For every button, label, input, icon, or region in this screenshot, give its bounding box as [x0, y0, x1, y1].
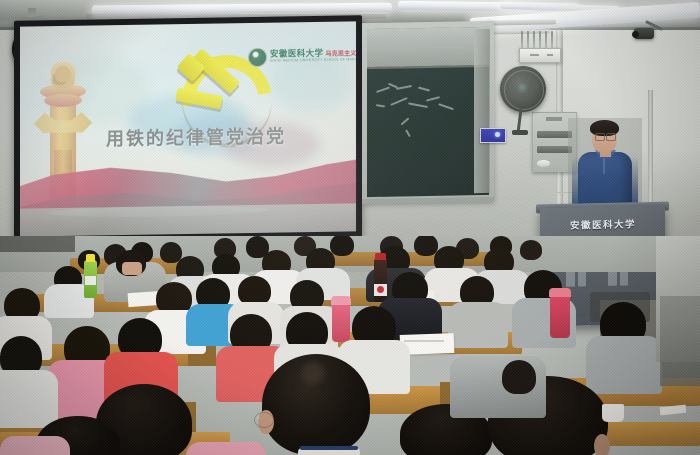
paper-sheet [660, 405, 687, 416]
panel-label [546, 117, 562, 121]
student-torso-pink [186, 442, 266, 455]
pink-thermos [550, 294, 570, 338]
bottle-label [85, 276, 96, 285]
fan-hub [517, 83, 529, 95]
blackboard [362, 21, 494, 203]
student-torso-pink [0, 436, 70, 455]
student-head [502, 360, 536, 394]
wall-dark-patch [0, 236, 75, 252]
hair-highlight [302, 362, 324, 384]
student-ear [594, 434, 610, 455]
paper-cup [602, 404, 624, 422]
bottle-logo [377, 286, 384, 293]
fan-base [512, 130, 528, 135]
pink-thermos [332, 302, 350, 342]
wall-fan-icon [500, 66, 548, 114]
thermos-cap [549, 288, 571, 297]
display-panel-indicator [495, 132, 500, 137]
display-panel-icon[interactable] [480, 128, 506, 143]
projection-screen: 安徽医科大学 马克思主义学院 ANHUI MEDICAL UNIVERSITY … [14, 15, 362, 242]
student-torso [0, 370, 58, 428]
panel-knob[interactable] [537, 160, 550, 167]
student-torso [448, 302, 508, 348]
notebook-line [404, 340, 444, 342]
projected-slide: 安徽医科大学 马克思主义学院 ANHUI MEDICAL UNIVERSITY … [20, 21, 356, 236]
bottle-cap [86, 254, 95, 262]
student-head [520, 240, 542, 260]
speaker-shirt-placket [603, 158, 605, 174]
slide-glare [20, 21, 356, 236]
student-torso [586, 336, 662, 394]
audience-seating [0, 236, 700, 455]
aisle-shadow [660, 296, 700, 386]
jammer-led [530, 54, 539, 56]
chalk-writing [374, 81, 478, 149]
collar-stripe [300, 446, 358, 450]
signal-jammer-body [519, 48, 561, 63]
blackboard-slider-panel[interactable] [474, 29, 490, 193]
thermos-cap [331, 296, 351, 305]
panel-switch[interactable] [537, 131, 572, 138]
lecture-hall-photo: 安徽医科大学 马克思主义学院 ANHUI MEDICAL UNIVERSITY … [0, 0, 700, 455]
student-head [330, 236, 354, 256]
glasses-icon [254, 412, 274, 428]
student-face [122, 262, 142, 275]
jammer-led [547, 54, 553, 56]
bottle-cap [375, 253, 386, 260]
camera-lens [632, 31, 639, 38]
glasses-bridge [595, 134, 614, 140]
podium-label: 安徽医科大学 [558, 216, 648, 232]
panel-switch[interactable] [537, 146, 572, 153]
blackboard-upper-panel [367, 27, 489, 67]
